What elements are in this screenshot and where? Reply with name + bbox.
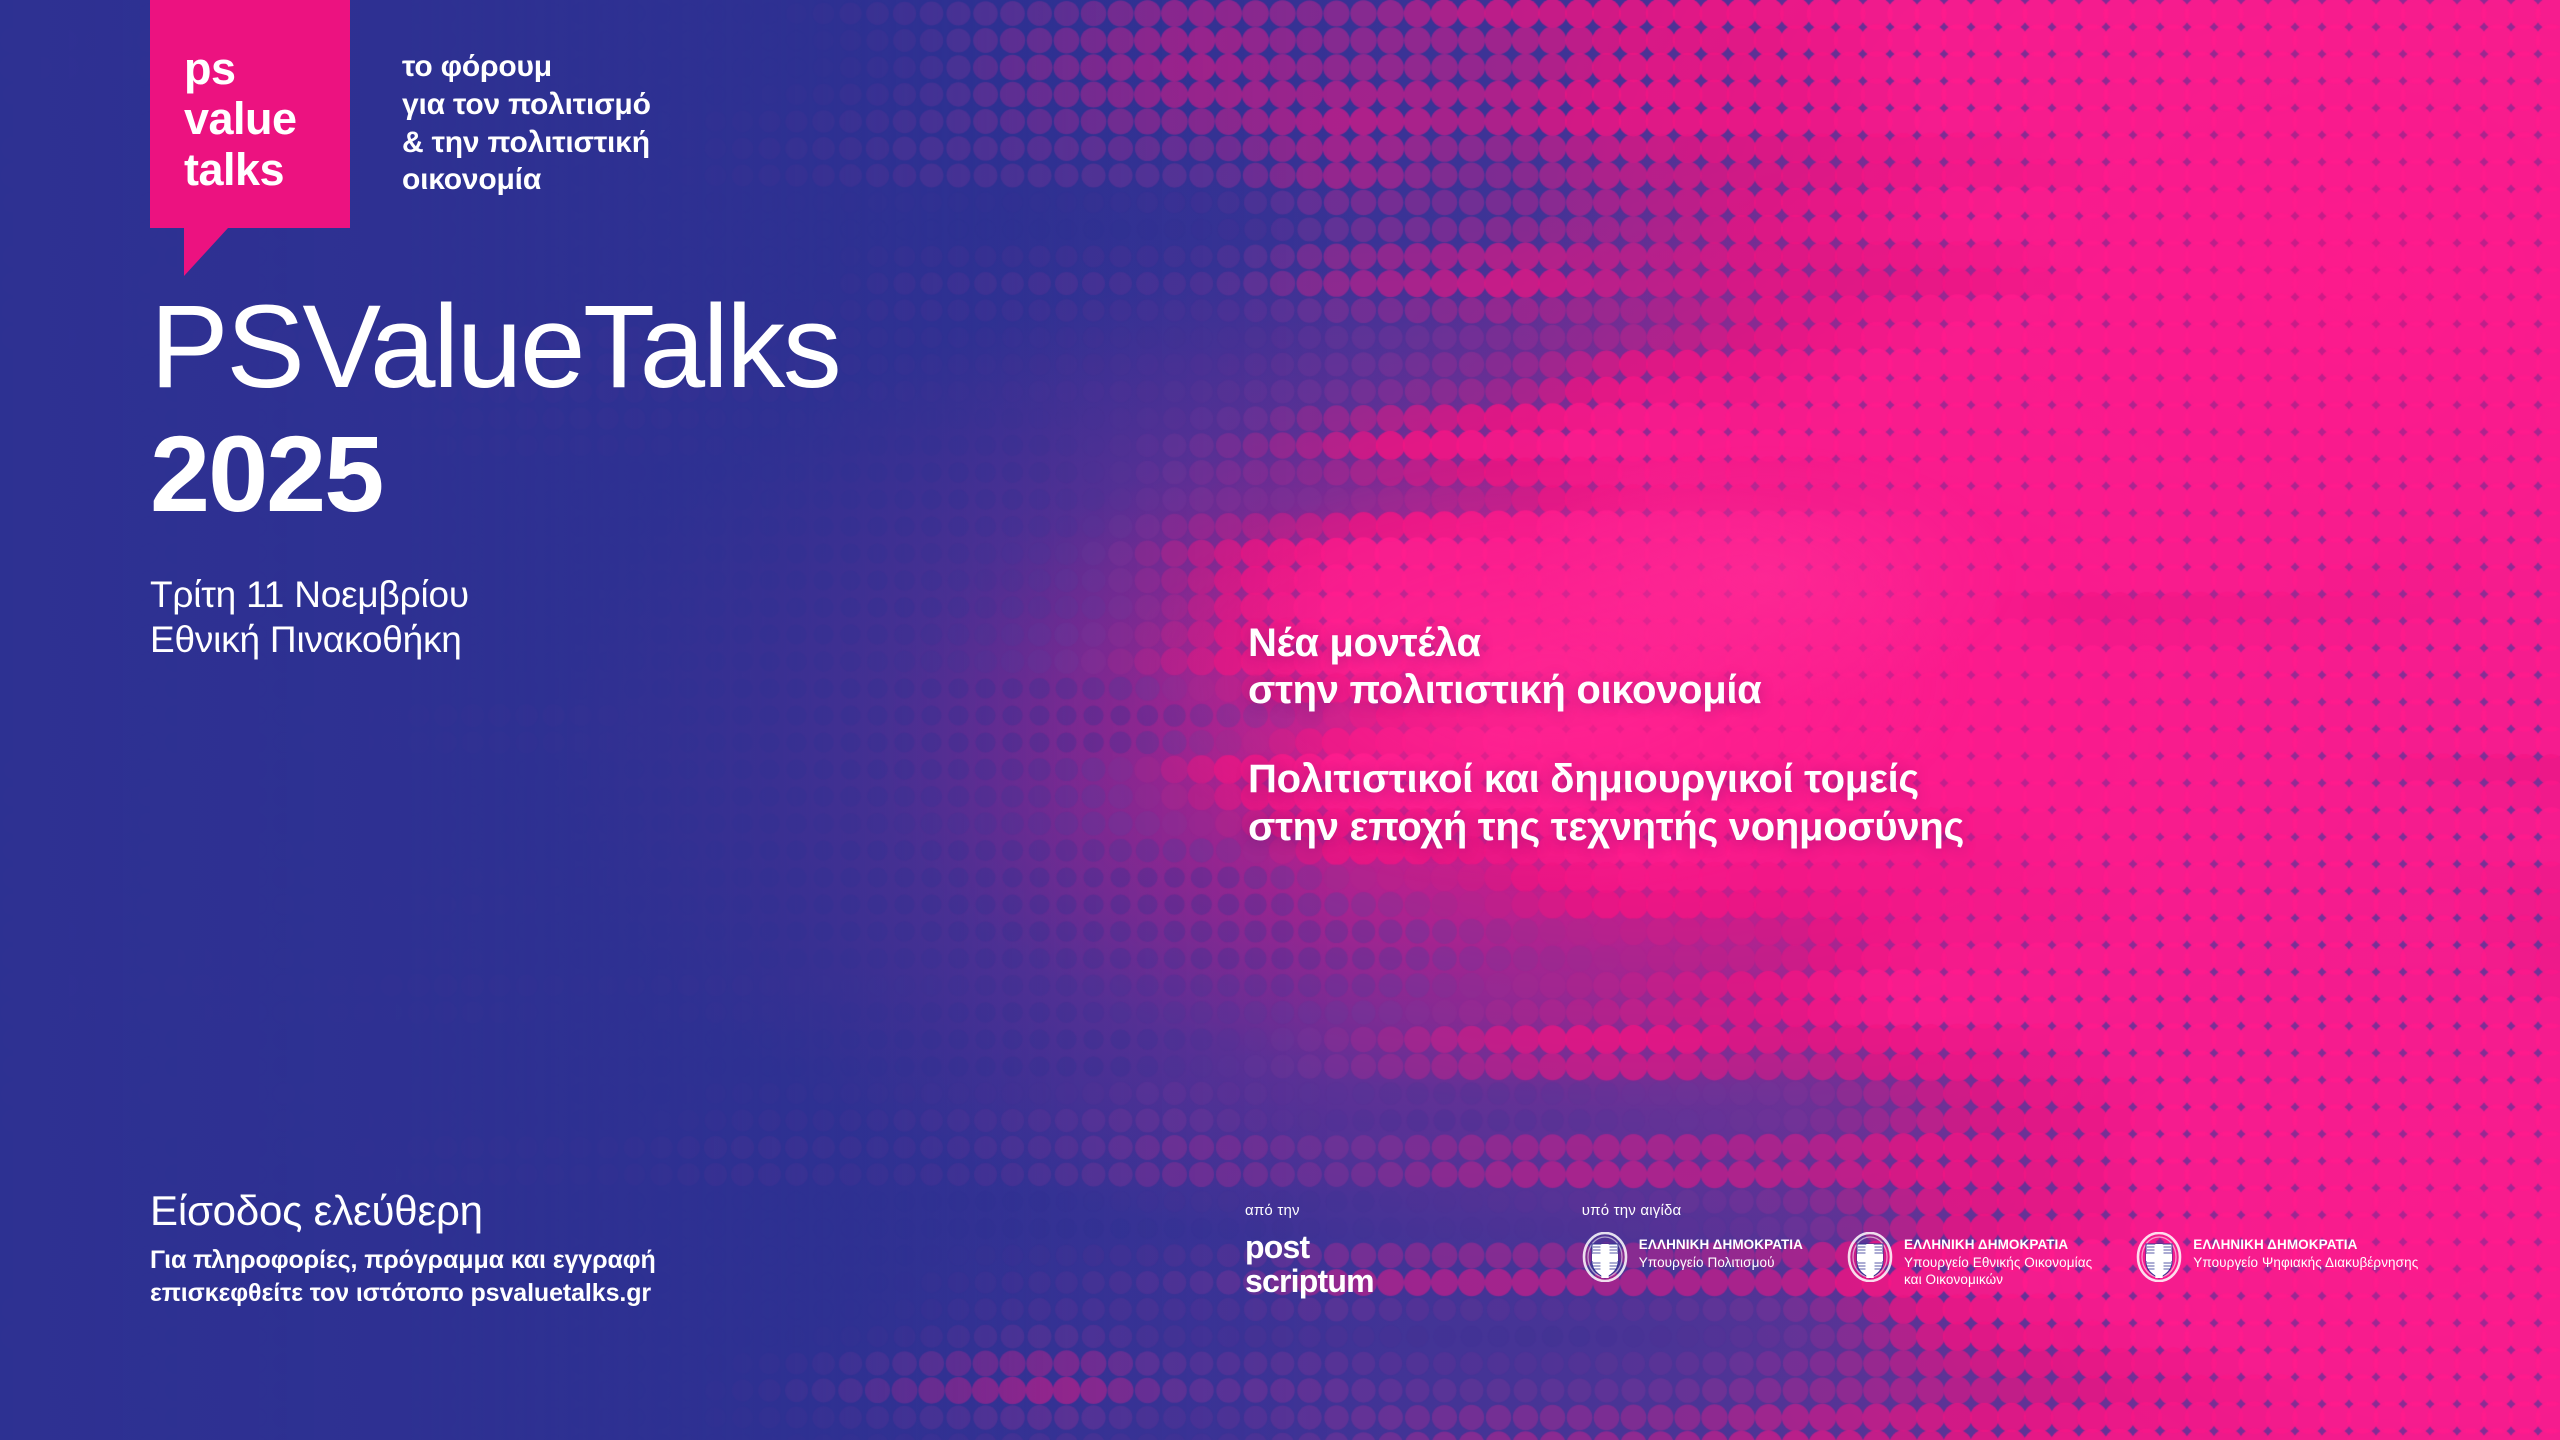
ministry-text-economy: ΕΛΛΗΝΙΚΗ ΔΗΜΟΚΡΑΤΙΑ Υπουργείο Εθνικής Οι… (1904, 1231, 2092, 1289)
event-date: Τρίτη 11 Νοεμβρίου (150, 572, 839, 617)
brand-tagline: το φόρουμ για τον πολιτισμό & την πολιτι… (402, 48, 651, 199)
logo-line-value: value (184, 94, 350, 144)
poster-canvas: ps value talks το φόρουμ για τον πολιτισ… (0, 0, 2560, 1440)
headline-theme-one: Νέα μοντέλα στην πολιτιστική οικονομία (1248, 620, 1964, 714)
headline-theme-two: Πολιτιστικοί και δημιουργικοί τομείς στη… (1248, 756, 1964, 850)
headline-two-line-2: στην εποχή της τεχνητής νοημοσύνης (1248, 804, 1964, 851)
event-meta: Τρίτη 11 Νοεμβρίου Εθνική Πινακοθήκη (150, 572, 839, 662)
ministry-logo-digital[interactable]: ΕΛΛΗΝΙΚΗ ΔΗΜΟΚΡΑΤΙΑ Υπουργείο Ψηφιακής Δ… (2136, 1231, 2418, 1282)
tagline-line-4: οικονομία (402, 161, 651, 199)
tagline-line-1: το φόρουμ (402, 48, 651, 86)
title-block: PSValueTalks 2025 Τρίτη 11 Νοεμβρίου Εθν… (150, 290, 839, 662)
event-year: 2025 (150, 420, 839, 528)
headline-two-line-1: Πολιτιστικοί και δημιουργικοί τομείς (1248, 756, 1964, 803)
hellenic-republic-crest-icon (2136, 1232, 2182, 1282)
logo-line-ps: ps (184, 44, 350, 94)
registration-info-line-1: Για πληροφορίες, πρόγραμμα και εγγραφή (150, 1244, 656, 1277)
organiser-line-1: post (1245, 1231, 1374, 1265)
hellenic-republic-crest-icon (1847, 1232, 1893, 1282)
auspices-kicker: υπό την αιγίδα (1582, 1202, 2419, 1219)
ministry-text-culture: ΕΛΛΗΝΙΚΗ ΔΗΜΟΚΡΑΤΙΑ Υπουργείο Πολιτισμού (1639, 1231, 1803, 1271)
organiser-line-2: scriptum (1245, 1265, 1374, 1299)
ministry-sub-line-2: και Οικονομικών (1904, 1271, 2092, 1289)
registration-info: Για πληροφορίες, πρόγραμμα και εγγραφή ε… (150, 1244, 656, 1310)
organiser-group: από την post scriptum (1245, 1202, 1374, 1298)
ministry-sub-line-1: Υπουργείο Εθνικής Οικονομίας (1904, 1254, 2092, 1272)
auspices-group: υπό την αιγίδα (1582, 1202, 2419, 1289)
ministry-logo-culture[interactable]: ΕΛΛΗΝΙΚΗ ΔΗΜΟΚΡΑΤΙΑ Υπουργείο Πολιτισμού (1582, 1231, 1803, 1282)
headline-block: Νέα μοντέλα στην πολιτιστική οικονομία Π… (1248, 620, 1964, 851)
event-venue: Εθνική Πινακοθήκη (150, 617, 839, 662)
free-entry-label: Είσοδος ελεύθερη (150, 1188, 656, 1234)
ministry-title: ΕΛΛΗΝΙΚΗ ΔΗΜΟΚΡΑΤΙΑ (1639, 1237, 1803, 1254)
tagline-line-2: για τον πολιτισμό (402, 86, 651, 124)
logo-line-talks: talks (184, 145, 350, 195)
ministry-title: ΕΛΛΗΝΙΚΗ ΔΗΜΟΚΡΑΤΙΑ (2193, 1237, 2418, 1254)
registration-info-line-2[interactable]: επισκεφθείτε τον ιστότοπο psvaluetalks.g… (150, 1277, 656, 1310)
ministry-title: ΕΛΛΗΝΙΚΗ ΔΗΜΟΚΡΑΤΙΑ (1904, 1237, 2092, 1254)
hellenic-republic-crest-icon (1582, 1232, 1628, 1282)
sponsor-bar: από την post scriptum υπό την αιγίδα (1245, 1202, 2418, 1298)
post-scriptum-logo[interactable]: post scriptum (1245, 1231, 1374, 1298)
event-title: PSValueTalks (150, 290, 839, 406)
ps-value-talks-logo[interactable]: ps value talks (150, 0, 350, 228)
admission-info-block: Είσοδος ελεύθερη Για πληροφορίες, πρόγρα… (150, 1188, 656, 1310)
brand-lockup: ps value talks το φόρουμ για τον πολιτισ… (150, 0, 651, 228)
ministry-sub-line-1: Υπουργείο Ψηφιακής Διακυβέρνησης (2193, 1254, 2418, 1272)
speech-bubble-tail-icon (184, 228, 228, 276)
organiser-kicker: από την (1245, 1202, 1374, 1219)
ministry-text-digital: ΕΛΛΗΝΙΚΗ ΔΗΜΟΚΡΑΤΙΑ Υπουργείο Ψηφιακής Δ… (2193, 1231, 2418, 1271)
headline-one-line-1: Νέα μοντέλα (1248, 620, 1964, 667)
headline-one-line-2: στην πολιτιστική οικονομία (1248, 667, 1964, 714)
ministry-sub-line-1: Υπουργείο Πολιτισμού (1639, 1254, 1803, 1272)
ministry-logo-economy[interactable]: ΕΛΛΗΝΙΚΗ ΔΗΜΟΚΡΑΤΙΑ Υπουργείο Εθνικής Οι… (1847, 1231, 2092, 1289)
tagline-line-3: & την πολιτιστική (402, 124, 651, 162)
ministry-logo-list: ΕΛΛΗΝΙΚΗ ΔΗΜΟΚΡΑΤΙΑ Υπουργείο Πολιτισμού (1582, 1231, 2419, 1289)
